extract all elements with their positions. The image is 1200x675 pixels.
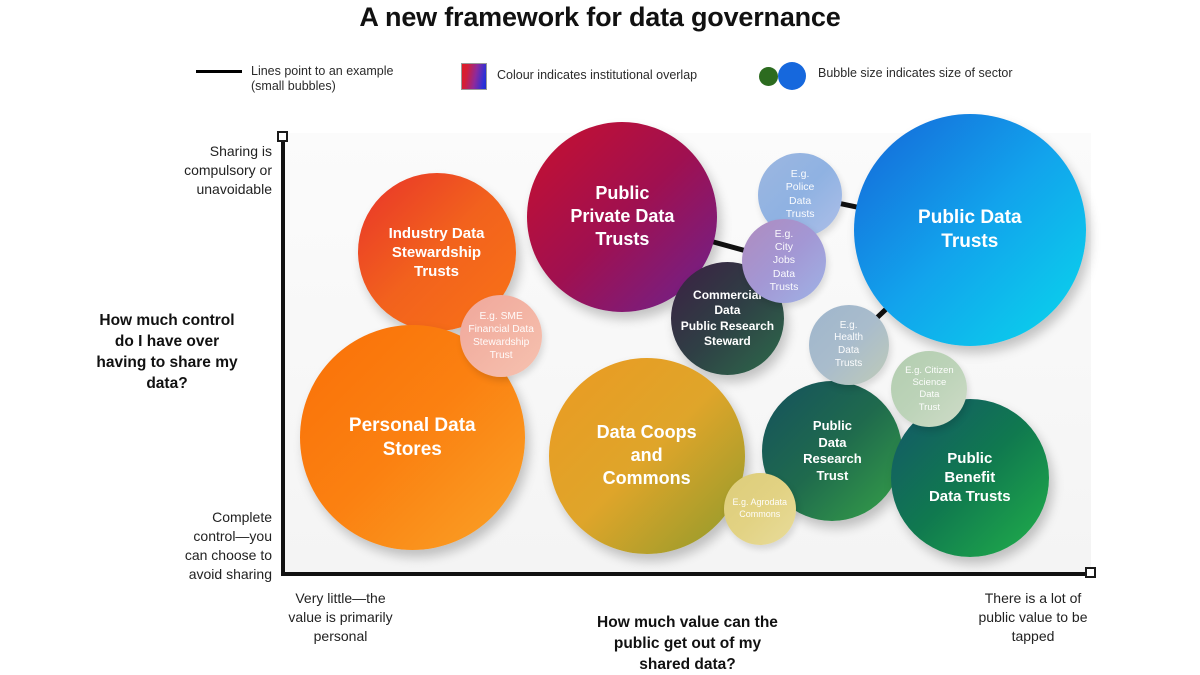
x-axis-end-handle[interactable] xyxy=(1085,567,1096,578)
x-axis-right-label: There is a lot of public value to be tap… xyxy=(950,589,1116,646)
bubble-label: Data Coops and Commons xyxy=(597,421,697,490)
small-circle-icon xyxy=(759,67,778,86)
bubble-label: Personal Data Stores xyxy=(349,414,476,463)
bubble-agrodata-commons[interactable]: E.g. Agrodata Commons xyxy=(724,473,796,545)
x-axis-line xyxy=(281,572,1093,576)
bubble-data-coops-and-commons[interactable]: Data Coops and Commons xyxy=(549,358,745,554)
y-axis-end-handle[interactable] xyxy=(277,131,288,142)
bubble-label: Public Private Data Trusts xyxy=(570,182,674,251)
page-title: A new framework for data governance xyxy=(0,0,1200,34)
y-axis-title: How much control do I have over having t… xyxy=(62,310,272,394)
legend-colour-label: Colour indicates institutional overlap xyxy=(497,68,697,83)
bubble-label: E.g. Agrodata Commons xyxy=(732,497,787,520)
y-axis-bottom-label: Complete control—you can choose to avoid… xyxy=(96,508,272,584)
gradient-square-swatch-icon xyxy=(461,63,487,90)
bubble-sme-financial-data-stewardship-trust[interactable]: E.g. SME Financial Data Stewardship Trus… xyxy=(460,295,542,377)
x-axis-left-label: Very little—the value is primarily perso… xyxy=(259,589,422,646)
y-axis-line xyxy=(281,136,285,576)
line-swatch-icon xyxy=(196,70,242,73)
legend-item-colour: Colour indicates institutional overlap xyxy=(461,63,697,90)
bubble-label: E.g. Citizen Science Data Trust xyxy=(905,365,954,414)
bubble-label: E.g. Police Data Trusts xyxy=(786,168,815,222)
two-circles-swatch-icon xyxy=(758,60,808,90)
bubble-label: E.g. City Jobs Data Trusts xyxy=(770,228,799,295)
legend-size-label: Bubble size indicates size of sector xyxy=(818,66,1013,81)
legend-item-size: Bubble size indicates size of sector xyxy=(758,60,1013,90)
bubble-health-data-trusts[interactable]: E.g. Health Data Trusts xyxy=(809,305,889,385)
bubble-label: E.g. Health Data Trusts xyxy=(834,320,863,371)
bubble-label: Public Benefit Data Trusts xyxy=(929,449,1011,507)
x-axis-title: How much value can the public get out of… xyxy=(535,612,840,675)
bubble-label: E.g. SME Financial Data Stewardship Trus… xyxy=(468,310,534,363)
large-circle-icon xyxy=(778,62,806,90)
bubble-city-jobs-data-trusts[interactable]: E.g. City Jobs Data Trusts xyxy=(742,219,826,303)
bubble-label: Commercial Data Public Research Steward xyxy=(681,288,774,349)
legend-item-line: Lines point to an example (small bubbles… xyxy=(196,64,393,94)
y-axis-top-label: Sharing is compulsory or unavoidable xyxy=(96,142,272,199)
bubble-label: Public Data Trusts xyxy=(918,206,1021,255)
bubble-label: Industry Data Stewardship Trusts xyxy=(389,224,485,282)
legend-line-label: Lines point to an example (small bubbles… xyxy=(251,64,393,94)
legend: Lines point to an example (small bubbles… xyxy=(196,60,1076,104)
bubble-label: Public Data Research Trust xyxy=(803,418,862,485)
bubble-public-data-trusts[interactable]: Public Data Trusts xyxy=(854,114,1086,346)
